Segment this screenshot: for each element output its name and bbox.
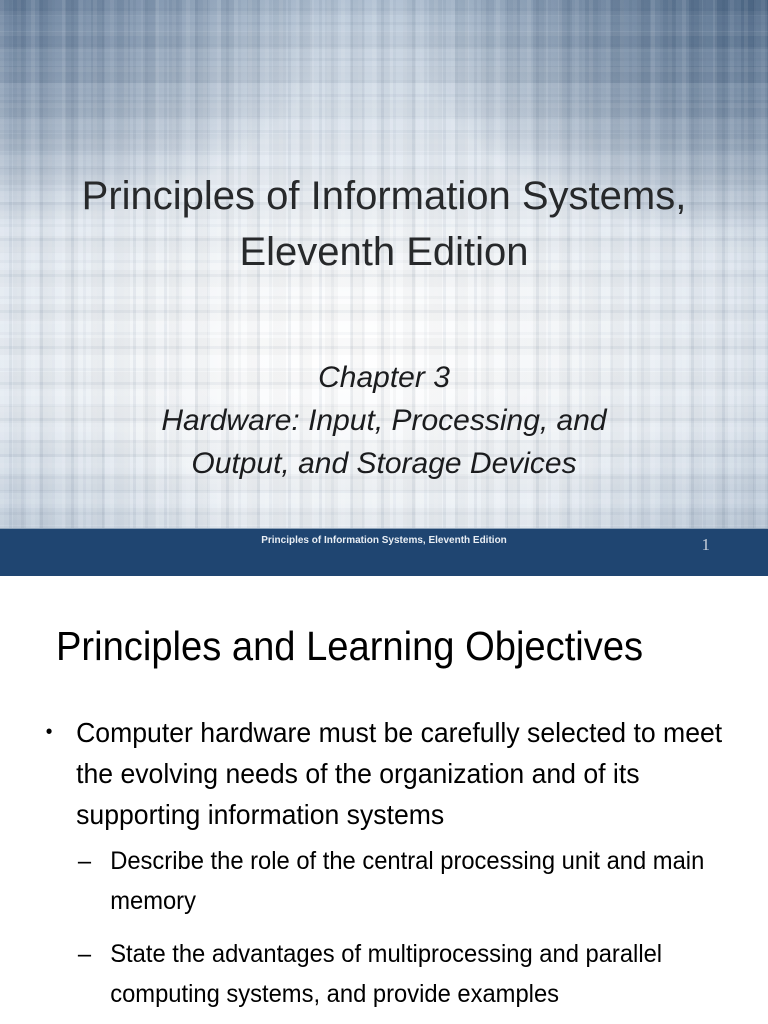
bullet-text-sub-2: State the advantages of multiprocessing …	[110, 940, 662, 1008]
bullet-item-primary: • Computer hardware must be carefully se…	[40, 712, 724, 835]
content-slide: Principles and Learning Objectives • Com…	[0, 576, 768, 1024]
bullet-item-sub-2: – State the advantages of multiprocessin…	[76, 934, 741, 1014]
sub-bullet-group: – Describe the role of the central proce…	[40, 841, 752, 1014]
bullet-text-sub-1: Describe the role of the central process…	[110, 847, 704, 915]
chapter-label: Chapter 3	[36, 356, 732, 399]
bullet-marker-dash-icon: –	[78, 841, 91, 881]
content-slide-heading: Principles and Learning Objectives	[56, 620, 688, 672]
bullet-marker-dot-icon: •	[46, 712, 53, 753]
slide-deck: Principles of Information Systems, Eleve…	[0, 0, 768, 1024]
slide-page-number: 1	[702, 534, 711, 556]
bullet-marker-dash-icon: –	[78, 934, 91, 974]
slide-background-weave-texture	[0, 0, 768, 576]
presentation-title: Principles of Information Systems, Eleve…	[36, 168, 732, 280]
slide-footer-bar: Principles of Information Systems, Eleve…	[0, 528, 768, 576]
objectives-bullet-list: • Computer hardware must be carefully se…	[40, 712, 752, 1014]
bullet-text-primary: Computer hardware must be carefully sele…	[76, 717, 722, 830]
chapter-title-line-1: Hardware: Input, Processing, and	[36, 399, 732, 442]
bullet-item-sub-1: – Describe the role of the central proce…	[76, 841, 741, 921]
presentation-subtitle: Chapter 3 Hardware: Input, Processing, a…	[36, 356, 732, 485]
footer-title-text: Principles of Information Systems, Eleve…	[196, 534, 572, 548]
title-slide: Principles of Information Systems, Eleve…	[0, 0, 768, 576]
chapter-title-line-2: Output, and Storage Devices	[36, 442, 732, 485]
